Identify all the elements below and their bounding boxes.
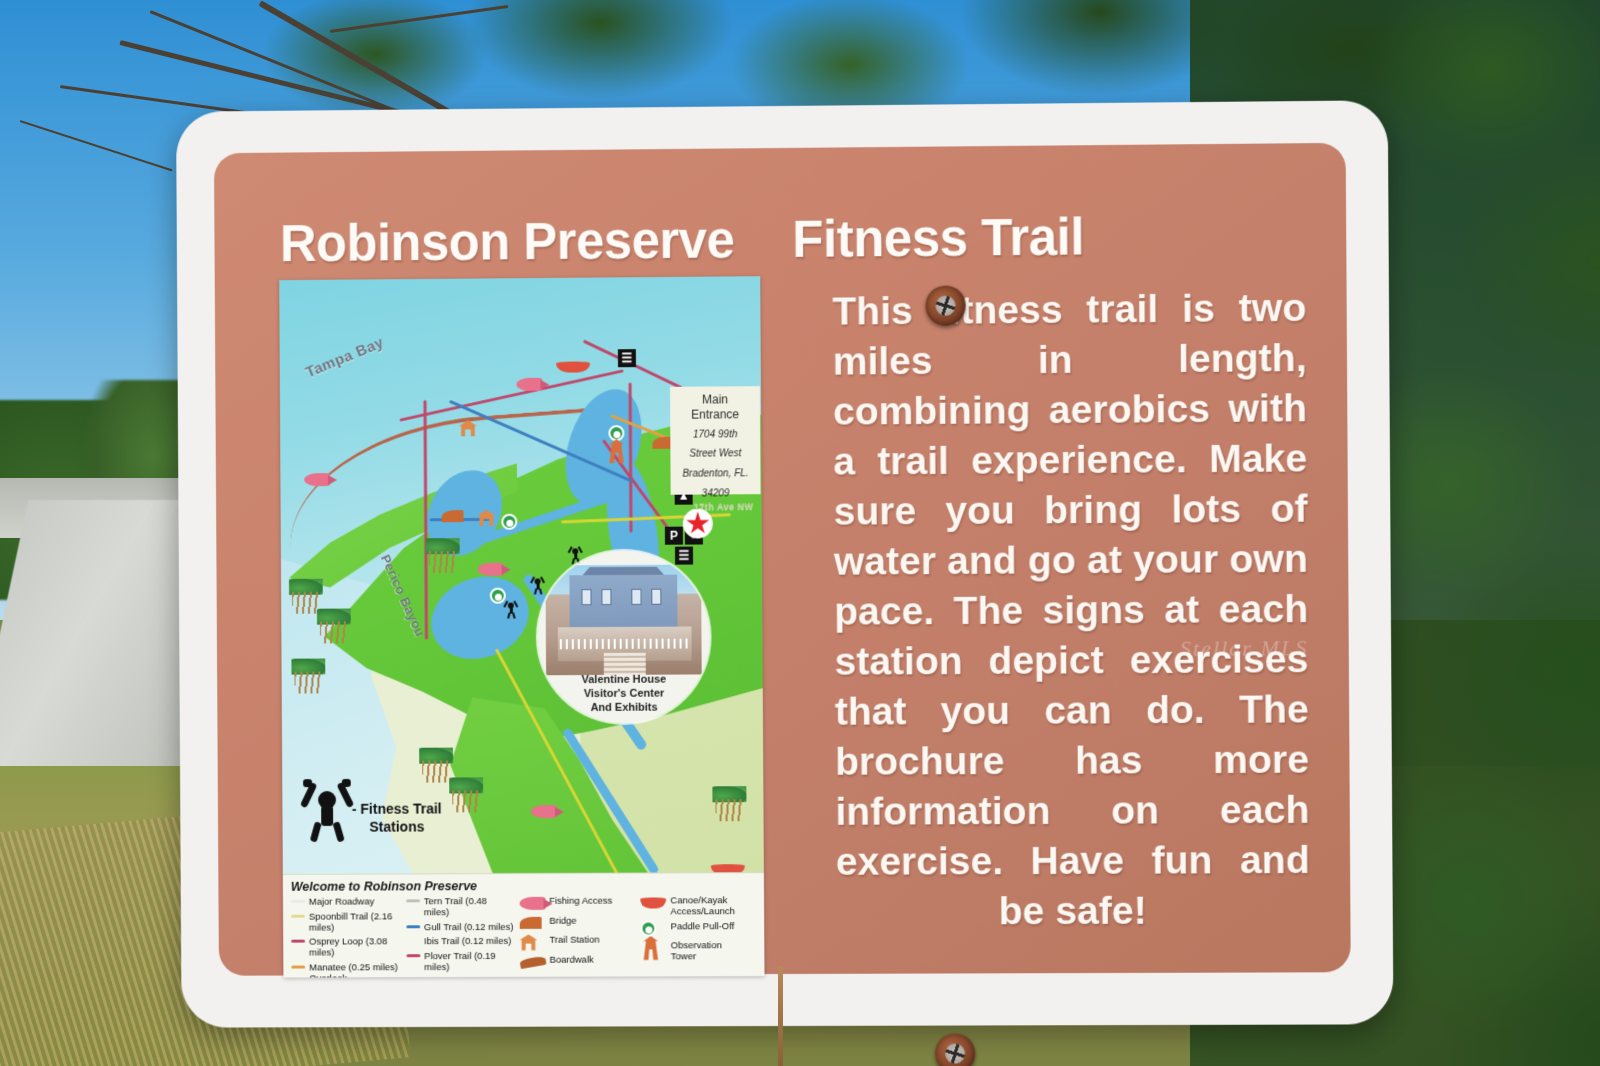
boardwalk-icon (520, 953, 546, 970)
trail-swatch (291, 965, 305, 968)
valentine-house-inset: Valentine House Visitor's Center And Exh… (537, 550, 710, 723)
legend-label: Paddle Pull-Off (671, 920, 735, 932)
legend-trails-column-1: Major Roadway Spoonbill Trail (2.16 mile… (291, 895, 401, 977)
legend-label-second-line: Tower (671, 951, 696, 962)
valentine-house-photo (545, 564, 701, 675)
fitness-label-line2: Stations (352, 817, 442, 835)
paddle-pulloff-icon (608, 425, 624, 441)
picnic-table-icon: ☰ (618, 349, 636, 367)
title-part-one: Robinson Preserve (280, 211, 735, 272)
legend-icons-column-2: Canoe/KayakAccess/Launch Paddle Pull-Off… (641, 894, 757, 977)
fishing-access-icon (478, 563, 504, 576)
legend-label: Spoonbill Trail (2.16 miles) (309, 910, 400, 933)
paddle-pulloff-icon (490, 588, 506, 604)
picnic-table-icon: ☰ (675, 547, 693, 565)
photo-watermark: Stellar MLS (1180, 635, 1309, 662)
legend-label: Trail Station (549, 934, 599, 946)
fitness-label-line1: - Fitness Trail (352, 800, 442, 818)
legend-label: Bridge (549, 914, 576, 926)
legend-item: Boardwalk (520, 953, 635, 970)
legend-label-wrap: ObservationTower (671, 939, 722, 962)
legend-label-second-line: Access/Launch (671, 906, 735, 917)
trail-swatch (406, 939, 420, 942)
valentine-house-caption: Valentine House Visitor's Center And Exh… (538, 672, 710, 715)
fishing-access-icon (531, 805, 557, 818)
mangrove-cluster (317, 609, 351, 645)
legend-label: Observation (671, 940, 722, 951)
legend-label: Manatee (0.25 miles) (309, 962, 398, 973)
mounting-screw-top (925, 285, 965, 325)
valentine-caption-line3: And Exhibits (538, 700, 710, 715)
main-entrance-callout: Main Entrance 1704 99th Street West Brad… (670, 386, 761, 495)
observation-tower-icon (641, 939, 667, 956)
sign-panel: Robinson PreserveFitness Trail This fitn… (214, 143, 1351, 976)
entrance-address-line2: Street West (670, 447, 760, 461)
legend-title: Welcome to Robinson Preserve (291, 878, 756, 894)
trail-swatch (291, 900, 305, 903)
mangrove-cluster (426, 538, 460, 574)
legend-label-wrap: Canoe/KayakAccess/Launch (670, 894, 734, 917)
sign-post (778, 966, 783, 1066)
trail-swatch (406, 925, 420, 928)
bridge-icon (519, 914, 545, 931)
trail-swatch (291, 940, 305, 943)
legend-item: Major Roadway (291, 895, 400, 907)
trail-swatch (291, 914, 305, 917)
fish-icon (519, 895, 545, 912)
valentine-caption-line1: Valentine House (538, 672, 710, 687)
legend-item: Trail Station (519, 934, 634, 951)
fishing-access-icon (304, 473, 330, 486)
legend-label: Major Roadway (309, 896, 375, 908)
mangrove-cluster (712, 786, 746, 822)
title-part-two: Fitness Trail (792, 208, 1084, 268)
legend-item: Canoe/KayakAccess/Launch (641, 894, 757, 917)
fishing-access-icon (516, 378, 542, 391)
entrance-city-line1: Bradenton, FL. (671, 467, 761, 481)
legend-trails-column-2: Tern Trail (0.48 miles) Gull Trail (0.12… (406, 895, 514, 978)
legend-item: Osprey Loop (3.08 miles) (291, 935, 400, 958)
legend-item: Tern Trail (0.48 miles) (406, 895, 513, 918)
fitness-station-marker (505, 600, 517, 618)
bridge-icon (442, 510, 464, 522)
legend-icons-column-1: Fishing Access Bridge Trail Station Boar… (519, 895, 635, 978)
trail-information-sign: Robinson PreserveFitness Trail This fitn… (176, 100, 1393, 1027)
entrance-address-line1: 1704 99th (670, 428, 760, 442)
legend-label: Gull Trail (0.12 miles) (424, 920, 513, 932)
sign-body-text: This fitness trail is two miles in lengt… (832, 284, 1310, 938)
legend-label: Canoe/Kayak (670, 895, 727, 906)
legend-label-wrap: Manatee (0.25 miles)Overlook (309, 961, 398, 978)
legend-item: Gull Trail (0.12 miles) (406, 920, 513, 932)
parking-icon: P (665, 527, 683, 545)
entrance-city-line2: 34209 (671, 487, 761, 501)
trail-swatch (406, 954, 420, 957)
entrance-title-line1: Main (670, 392, 760, 408)
map-legend: Welcome to Robinson Preserve Major Roadw… (283, 872, 765, 977)
entrance-title-line2: Entrance (670, 407, 760, 423)
fitness-station-marker (569, 545, 581, 563)
legend-label: Tern Trail (0.48 miles) (424, 895, 514, 918)
legend-label: Plover Trail (0.19 miles) (424, 949, 514, 972)
valentine-caption-line2: Visitor's Center (538, 686, 710, 701)
legend-item: Ibis Trail (0.12 miles) (406, 935, 513, 947)
legend-label: Osprey Loop (3.08 miles) (309, 935, 400, 958)
legend-item: Fishing Access (519, 895, 634, 912)
legend-item: ObservationTower (641, 939, 757, 962)
preserve-map: ☰ ▲ P ♂ ☰ (279, 276, 764, 977)
fitness-station-marker (532, 575, 544, 593)
fitness-stations-label: - Fitness Trail Stations (350, 778, 442, 836)
you-are-here-marker (683, 508, 713, 538)
legend-label: Ibis Trail (0.12 miles) (424, 935, 511, 947)
legend-item: Bridge (519, 914, 634, 931)
paddle-pulloff-icon (641, 920, 667, 937)
canoe-icon (641, 894, 667, 911)
trail-station-icon (519, 934, 545, 951)
legend-label: Boardwalk (549, 953, 593, 965)
legend-label-second-line: Overlook (309, 973, 347, 978)
stick-figure-icon (304, 778, 350, 840)
paddle-pulloff-icon (501, 514, 517, 530)
legend-item: Plover Trail (0.19 miles) (406, 949, 513, 972)
legend-item: Spoonbill Trail (2.16 miles) (291, 910, 400, 933)
legend-item: Manatee (0.25 miles)Overlook (291, 961, 400, 978)
trail-swatch (406, 899, 420, 902)
fitness-stations-key: - Fitness Trail Stations (304, 777, 473, 857)
legend-label: Fishing Access (549, 895, 612, 907)
sign-title: Robinson PreserveFitness Trail (280, 205, 1320, 276)
mangrove-cluster (291, 658, 325, 694)
legend-item: Paddle Pull-Off (641, 920, 757, 937)
